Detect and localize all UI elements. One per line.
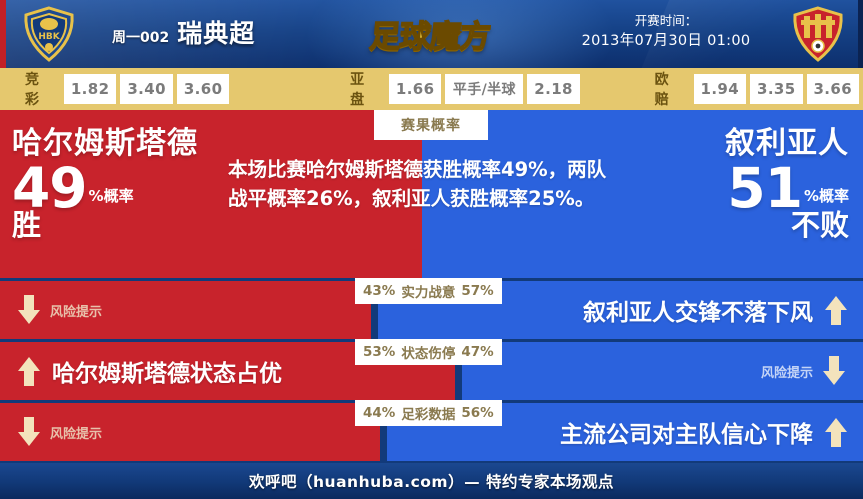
stat-right-percent: 56% [461,405,493,421]
stat-right-percent: 47% [461,344,493,360]
away-team-name: 叙利亚人 [725,128,849,160]
home-team-crest-icon: HBK [22,6,76,62]
insight-headline-right: 叙利亚人交锋不落下风 [583,281,847,339]
odds-label-oupei: 欧赔 [646,69,694,109]
odds-cell-jingcai-3[interactable]: 3.60 [177,74,229,104]
stat-row: 43% 实力战意 57% 风险提示 叙利亚人交锋不落下风 [0,281,863,339]
stat-left-percent: 43% [363,283,395,299]
stat-right-percent: 57% [461,283,493,299]
match-analysis-infographic: HBK 周一002 瑞典超 足球魔方 开赛时间： 2013年07月 [0,0,863,499]
insight-headline-right: 主流公司对主队信心下降 [560,403,847,461]
away-probability-block: 叙利亚人 51 %概率 不败 [725,128,849,241]
header-left-accent [0,0,6,68]
odds-group-jingcai: 竞彩 1.82 3.40 3.60 [16,69,233,109]
odds-cell-oupei-1[interactable]: 1.94 [694,74,746,104]
stat-row: 53% 状态伤停 47% 哈尔姆斯塔德状态占优 风险提示 [0,342,863,400]
probability-summary-text: 本场比赛哈尔姆斯塔德获胜概率49%，两队战平概率26%，叙利亚人获胜概率25%。 [228,156,624,213]
header-bar: HBK 周一002 瑞典超 足球魔方 开赛时间： 2013年07月 [0,0,863,68]
odds-label-yapan: 亚盘 [341,69,389,109]
brand-logo-text: 足球魔方 [368,11,492,56]
risk-label-right: 风险提示 [761,362,813,381]
kickoff-info: 开赛时间： 2013年07月30日 01:00 [561,12,771,53]
odds-label-jingcai: 竞彩 [16,69,64,109]
stat-left-percent: 53% [363,344,395,360]
footer-bar: 欢呼吧（huanhuba.com）— 特约专家本场观点 [0,463,863,499]
stat-chip[interactable]: 43% 实力战意 57% [355,278,502,304]
arrow-down-icon [18,417,40,447]
risk-label-left: 风险提示 [50,423,102,442]
insight-text-right: 叙利亚人交锋不落下风 [583,293,813,327]
footer-credit-text: 欢呼吧（huanhuba.com）— 特约专家本场观点 [249,470,614,492]
odds-cell-yapan-1[interactable]: 1.66 [389,74,441,104]
home-team-name: 哈尔姆斯塔德 [12,128,198,160]
tab-result-probability[interactable]: 赛果概率 [374,110,488,140]
odds-group-yapan: 亚盘 1.66 平手/半球 2.18 [341,69,584,109]
away-percent-line: 51 %概率 [725,162,849,215]
svg-text:HBK: HBK [38,32,60,42]
brand-logo: 足球魔方 [355,8,505,58]
kickoff-label: 开赛时间： [561,12,771,31]
stat-name: 状态伤停 [401,342,455,362]
stat-chip[interactable]: 44% 足彩数据 56% [355,400,502,426]
arrow-up-icon [18,356,40,386]
league-name: 瑞典超 [177,14,255,50]
arrow-up-icon [825,295,847,325]
stat-row: 44% 足彩数据 56% 风险提示 主流公司对主队信心下降 [0,403,863,461]
stat-name: 实力战意 [401,281,455,301]
home-outcome-label: 胜 [12,210,198,240]
match-info: 周一002 瑞典超 [112,14,255,50]
arrow-up-icon [825,417,847,447]
odds-cell-jingcai-1[interactable]: 1.82 [64,74,116,104]
away-percent-value: 51 [727,162,802,215]
odds-cell-yapan-handicap[interactable]: 平手/半球 [445,74,523,104]
main-content: 赛果概率 哈尔姆斯塔德 49 %概率 胜 叙利亚人 51 %概率 不败 本场比赛… [0,110,863,463]
risk-indicator-right: 风险提示 [761,342,845,400]
odds-group-oupei: 欧赔 1.94 3.35 3.66 [646,69,863,109]
odds-cell-oupei-3[interactable]: 3.66 [807,74,859,104]
result-probability-panel: 赛果概率 哈尔姆斯塔德 49 %概率 胜 叙利亚人 51 %概率 不败 本场比赛… [0,110,863,278]
odds-cell-jingcai-2[interactable]: 3.40 [120,74,172,104]
arrow-down-icon [823,356,845,386]
home-percent-value: 49 [12,162,87,215]
kickoff-time: 2013年07月30日 01:00 [561,31,771,53]
away-team-crest-icon [791,6,845,62]
header-right-accent [858,0,863,68]
stat-left-percent: 44% [363,405,395,421]
stat-name: 足彩数据 [401,403,455,423]
risk-label-left: 风险提示 [50,301,102,320]
home-percent-line: 49 %概率 [12,162,198,215]
risk-indicator-left: 风险提示 [18,281,102,339]
home-percent-suffix: %概率 [89,185,134,214]
odds-bar: 竞彩 1.82 3.40 3.60 亚盘 1.66 平手/半球 2.18 欧赔 … [0,68,863,110]
odds-cell-yapan-2[interactable]: 2.18 [527,74,579,104]
odds-cell-oupei-2[interactable]: 3.35 [750,74,802,104]
stat-chip[interactable]: 53% 状态伤停 47% [355,339,502,365]
home-probability-block: 哈尔姆斯塔德 49 %概率 胜 [12,128,198,241]
match-number: 周一002 [112,27,169,47]
arrow-down-icon [18,295,40,325]
risk-indicator-left: 风险提示 [18,403,102,461]
insight-text-right: 主流公司对主队信心下降 [560,415,813,449]
insight-headline-left: 哈尔姆斯塔德状态占优 [18,342,282,400]
insight-text-left: 哈尔姆斯塔德状态占优 [52,354,282,388]
